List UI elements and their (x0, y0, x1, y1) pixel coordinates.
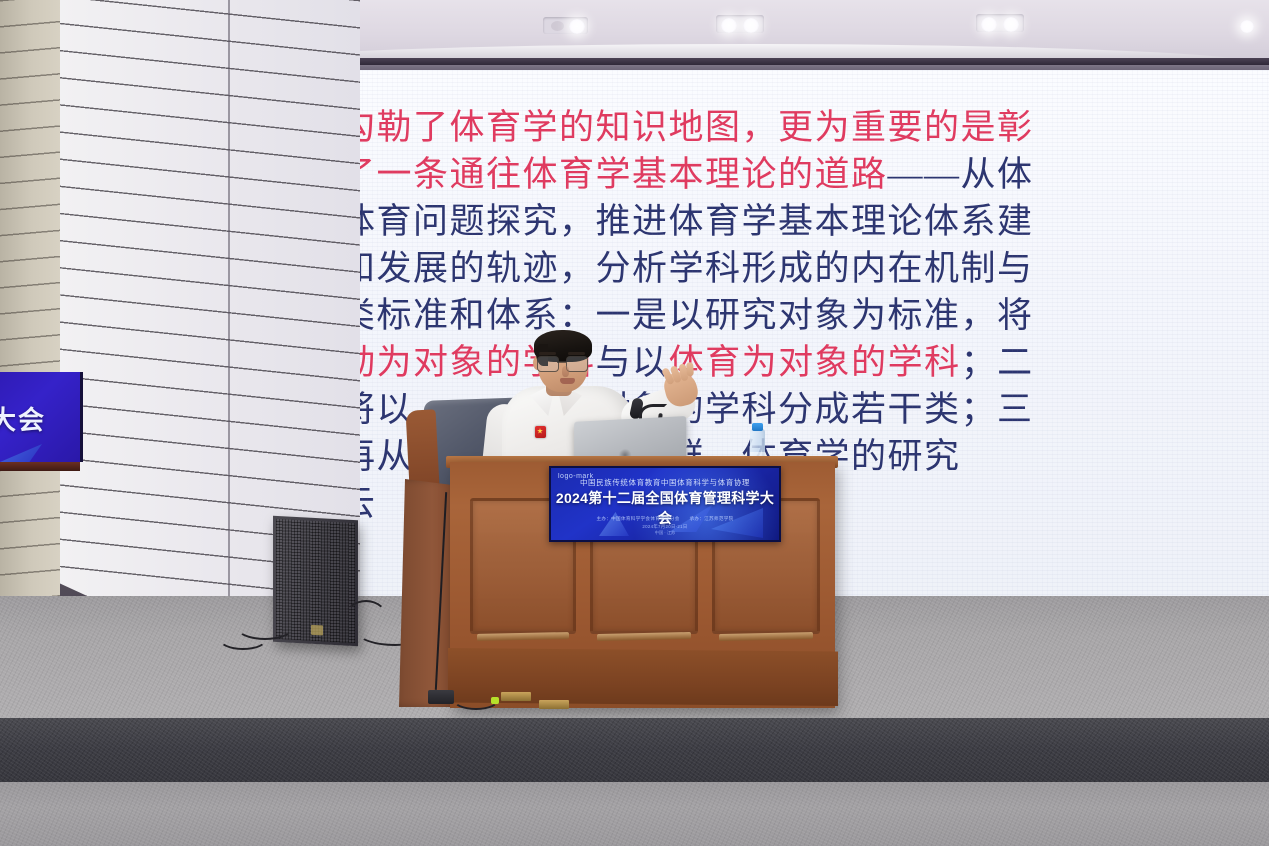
downlight-icon-6 (1003, 17, 1019, 32)
finger-4 (686, 362, 694, 376)
glasses-lens-left (537, 356, 559, 372)
floor-outlet-plate-1 (501, 692, 531, 701)
bottle-cap (752, 423, 763, 431)
slide-line-6-seg-1: 动为对象 (340, 343, 486, 382)
slide-line-2: 了一条通往体育学基本理论的道路——从体 (340, 151, 1269, 198)
downlight-icon-7 (1240, 20, 1254, 33)
banner-subtitle: 中国民族传统体育教育中国体育科学与体育协理 (551, 477, 779, 488)
banner-location: 中国 · 江苏 (551, 530, 779, 536)
front-floor (0, 782, 1269, 846)
side-monitor-stand (0, 462, 80, 471)
floor-outlet-plate-2 (539, 700, 569, 709)
slide-line-2-seg-2: ——从体 (888, 155, 1034, 194)
riser-carpet-texture (0, 718, 1269, 788)
side-monitor-text: 大会 (0, 400, 46, 437)
conference-photo: 勾勒了体育学的知识地图，更为重要的是彰 了一条通往体育学基本理论的道路——从体 … (0, 0, 1269, 846)
slide-line-6-seg-6: ；二 (961, 343, 1034, 382)
glasses-bridge (557, 361, 566, 363)
floor-cable-4 (344, 600, 388, 638)
glasses-lens-right (566, 356, 588, 372)
presenter-mouth (560, 378, 575, 384)
front-floor-texture (0, 782, 1269, 846)
slide-line-1: 勾勒了体育学的知识地图，更为重要的是彰 (340, 104, 1269, 151)
slide-line-4: 和发展的轨迹，分析学科形成的内在机制与 (340, 245, 1269, 292)
downlight-icon-3 (721, 18, 737, 33)
stage-riser-face (0, 718, 1269, 788)
floor-cable-2 (218, 626, 268, 650)
downlight-icon-4 (743, 18, 759, 33)
presenter-nose (562, 366, 569, 377)
banner-organizer: 主办：中国体育科学学会体育管理分会 承办：江苏师范学院 (551, 516, 779, 522)
wall-panel-seam (228, 0, 230, 690)
banner-title: 2024第十二届全国体育管理科学大会 (551, 488, 779, 528)
podium-led-banner: logo-mark 中国民族传统体育教育中国体育科学与体育协理 2024第十二届… (549, 466, 781, 542)
downlight-icon-2 (569, 19, 585, 34)
presenter-brow-left (539, 352, 556, 355)
green-cable-tag (491, 697, 499, 704)
downlight-icon-5 (981, 17, 997, 32)
slide-line-2-seg-1: 了一条通往体育学基本理论的道路 (340, 155, 888, 194)
slide-line-3-text: 体育问题探究，推进体育学基本理论体系建 (340, 202, 1034, 241)
speaker-badge (311, 625, 323, 636)
slide-line-1-text: 勾勒了体育学的知识地图，更为重要的是彰 (340, 108, 1034, 147)
power-adapter-brick (428, 690, 454, 704)
slide-line-4-text: 和发展的轨迹，分析学科形成的内在机制与 (340, 249, 1034, 288)
slide-line-3: 体育问题探究，推进体育学基本理论体系建 (340, 198, 1269, 245)
downlight-icon-1 (551, 21, 564, 31)
party-lapel-pin-icon (535, 426, 546, 438)
presenter-brow-right (568, 352, 585, 355)
side-confidence-monitor: 大会 (0, 372, 83, 462)
